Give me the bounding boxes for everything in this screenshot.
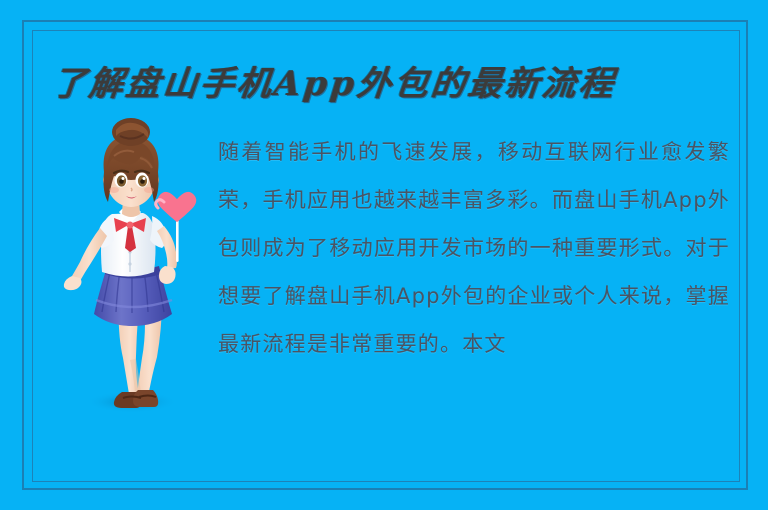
right-shoe	[133, 390, 158, 407]
heart-lollipop	[158, 192, 197, 222]
article-body-text: 随着智能手机的飞速发展，移动互联网行业愈发繁荣，手机应用也越来越丰富多彩。而盘山…	[218, 128, 730, 368]
poster-canvas: 了解盘山手机App外包的最新流程 随着智能手机的飞速发展，移动互联网行业愈发繁荣…	[0, 0, 768, 510]
right-hand	[159, 266, 176, 284]
left-hand	[64, 276, 82, 290]
right-arm	[157, 226, 177, 269]
page-title: 了解盘山手机App外包的最新流程	[49, 62, 674, 110]
anime-schoolgirl-illustration	[52, 110, 232, 430]
